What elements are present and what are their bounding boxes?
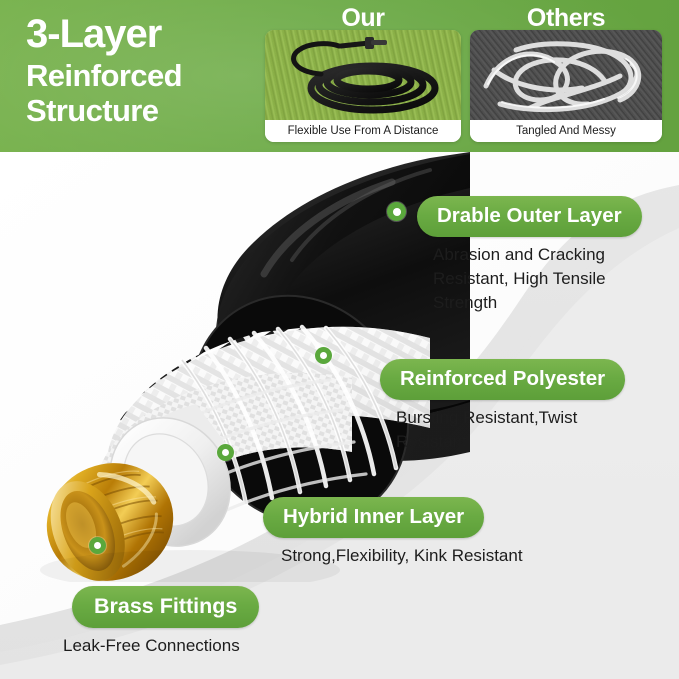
header-banner: 3-Layer Reinforced Structure Our bbox=[0, 0, 679, 152]
comparison-photo-our bbox=[265, 30, 461, 120]
infographic-canvas: 3-Layer Reinforced Structure Our bbox=[0, 0, 679, 679]
comparison-card-body-others: Tangled And Messy bbox=[470, 30, 662, 142]
comparison-card-our: Our bbox=[265, 30, 461, 142]
callout-marker-dot-1 bbox=[387, 202, 406, 221]
callout-description-durable-outer-layer: Abrasion and Cracking Resistant, High Te… bbox=[433, 243, 606, 315]
comparison-heading-our: Our bbox=[265, 4, 461, 33]
callout-label-hybrid-inner-layer[interactable]: Hybrid Inner Layer bbox=[263, 497, 484, 538]
callout-label-brass-fittings[interactable]: Brass Fittings bbox=[72, 586, 259, 628]
callout-description-brass-fittings: Leak-Free Connections bbox=[63, 634, 240, 658]
comparison-photo-others bbox=[470, 30, 662, 120]
callout-description-hybrid-inner-layer: Strong,Flexibility, Kink Resistant bbox=[281, 544, 523, 568]
callout-marker-dot-4 bbox=[89, 537, 106, 554]
comparison-card-others: Others bbox=[470, 30, 662, 142]
callout-marker-dot-3 bbox=[217, 444, 234, 461]
comparison-card-body-our: Flexible Use From A Distance bbox=[265, 30, 461, 142]
callout-label-durable-outer-layer[interactable]: Drable Outer Layer bbox=[417, 196, 642, 237]
callout-description-reinforced-polyester: Bursting Resistant,Twist Resistant bbox=[396, 406, 577, 454]
callout-label-reinforced-polyester[interactable]: Reinforced Polyester bbox=[380, 359, 625, 400]
title-main: 3-Layer bbox=[26, 12, 276, 56]
title-sub: Reinforced Structure bbox=[26, 58, 276, 128]
callout-marker-dot-2 bbox=[315, 347, 332, 364]
page-title: 3-Layer Reinforced Structure bbox=[26, 12, 276, 128]
comparison-heading-others: Others bbox=[470, 4, 662, 33]
comparison-caption-our: Flexible Use From A Distance bbox=[265, 120, 461, 142]
comparison-caption-others: Tangled And Messy bbox=[470, 120, 662, 142]
